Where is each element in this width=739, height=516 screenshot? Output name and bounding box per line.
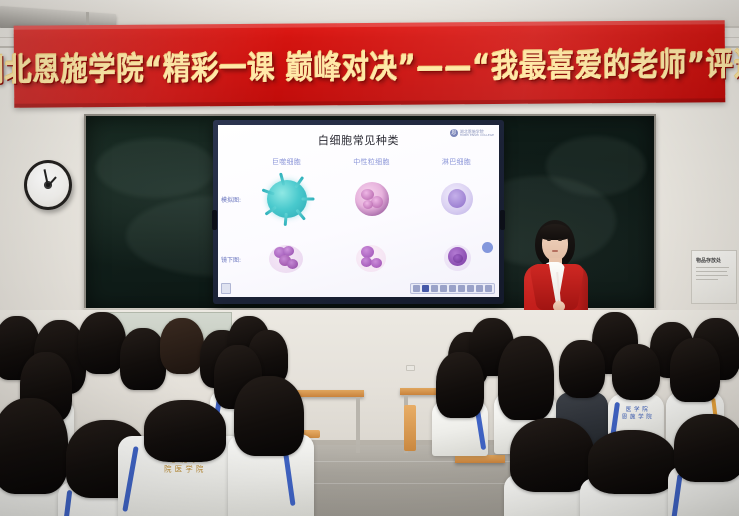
cell-micrograph-macrophage <box>245 242 330 276</box>
neutrophil-illustration <box>355 182 389 216</box>
clock-center-pin <box>46 183 50 187</box>
cell-micrograph-neutrophil <box>330 242 415 276</box>
slide-row-micrograph: 镜下图: <box>218 231 499 287</box>
screen-handle-right <box>500 210 505 230</box>
student <box>432 352 488 448</box>
chair-back <box>404 405 416 451</box>
toolbar-icon-shape[interactable] <box>440 285 447 292</box>
smart-display[interactable]: 恩 湖北恩施学院 HUBEI ENSHI COLLEGE 白细胞常见种类 巨噬细… <box>213 120 504 304</box>
presentation-slide: 恩 湖北恩施学院 HUBEI ENSHI COLLEGE 白细胞常见种类 巨噬细… <box>218 125 499 297</box>
student <box>78 312 126 384</box>
notice-sign: 物品存放处 <box>691 250 737 304</box>
toolbar-icon-grid[interactable] <box>476 285 483 292</box>
slide-row-illustration: 模拟图: <box>218 171 499 227</box>
neutrophil-micrograph <box>352 242 392 276</box>
logo-text-en: HUBEI ENSHI COLLEGE <box>460 134 494 138</box>
institution-logo: 恩 湖北恩施学院 HUBEI ENSHI COLLEGE <box>450 129 494 138</box>
column-header-neutrophil: 中性粒细胞 <box>329 157 414 167</box>
event-banner: 湖北恩施学院“精彩一课 巅峰对决”——“我最喜爱的老师”评选 <box>14 20 726 108</box>
macrophage-micrograph <box>267 242 307 276</box>
student-desk <box>455 455 505 463</box>
cloud-icon[interactable] <box>482 242 493 253</box>
chalk-smudge <box>96 138 216 198</box>
light-rod <box>86 12 89 26</box>
lymphocyte-micrograph <box>437 242 477 276</box>
macrophage-illustration <box>267 180 307 218</box>
classroom-scene: 湖北恩施学院“精彩一课 巅峰对决”——“我最喜爱的老师”评选 恩 <box>0 0 739 516</box>
row-label-illustration: 模拟图: <box>221 195 245 204</box>
slide-menu-icon[interactable] <box>221 283 231 294</box>
logo-mark: 恩 <box>450 129 458 137</box>
screen-handle-left <box>212 210 217 230</box>
lymphocyte-illustration <box>441 183 473 215</box>
row-label-micrograph: 镜下图: <box>221 255 245 264</box>
toolbar-icon-pen[interactable] <box>422 285 429 292</box>
presenter-mouth <box>552 250 558 252</box>
toolbar-icon-more[interactable] <box>485 285 492 292</box>
student <box>668 414 739 516</box>
wall-clock <box>24 160 72 210</box>
banner-text: 湖北恩施学院“精彩一课 巅峰对决”——“我最喜爱的老师”评选 <box>0 38 739 90</box>
notice-sign-title: 物品存放处 <box>696 257 732 264</box>
toolbar-icon-redo[interactable] <box>458 285 465 292</box>
presenter-eye-right <box>558 239 562 241</box>
uniform-text: 医 学 院恩 施 学 院 <box>621 407 652 422</box>
student <box>160 318 204 380</box>
cell-illustration-lymphocyte <box>414 183 499 215</box>
notice-line <box>696 267 729 269</box>
cell-illustration-neutrophil <box>330 182 415 216</box>
presenter-fringe <box>540 224 570 240</box>
desk-leg <box>356 397 360 453</box>
toolbar-icon-eraser[interactable] <box>431 285 438 292</box>
wall-socket <box>406 365 415 371</box>
presenter-eye-left <box>547 239 551 241</box>
notice-line <box>696 271 727 273</box>
toolbar-icon-pointer[interactable] <box>413 285 420 292</box>
notice-line <box>696 275 728 277</box>
toolbar-icon-undo[interactable] <box>449 285 456 292</box>
cell-illustration-macrophage <box>245 180 330 218</box>
column-header-lymphocyte: 淋巴细胞 <box>414 157 499 167</box>
column-header-macrophage: 巨噬细胞 <box>244 157 329 167</box>
lymphocyte-nucleus <box>448 189 466 208</box>
slide-column-headers: 巨噬细胞 中性粒细胞 淋巴细胞 <box>218 157 499 167</box>
slide-toolbar[interactable] <box>410 283 495 294</box>
notice-line <box>696 279 718 281</box>
chalk-smudge <box>546 136 646 196</box>
toolbar-icon-zoom[interactable] <box>467 285 474 292</box>
student <box>228 376 314 516</box>
